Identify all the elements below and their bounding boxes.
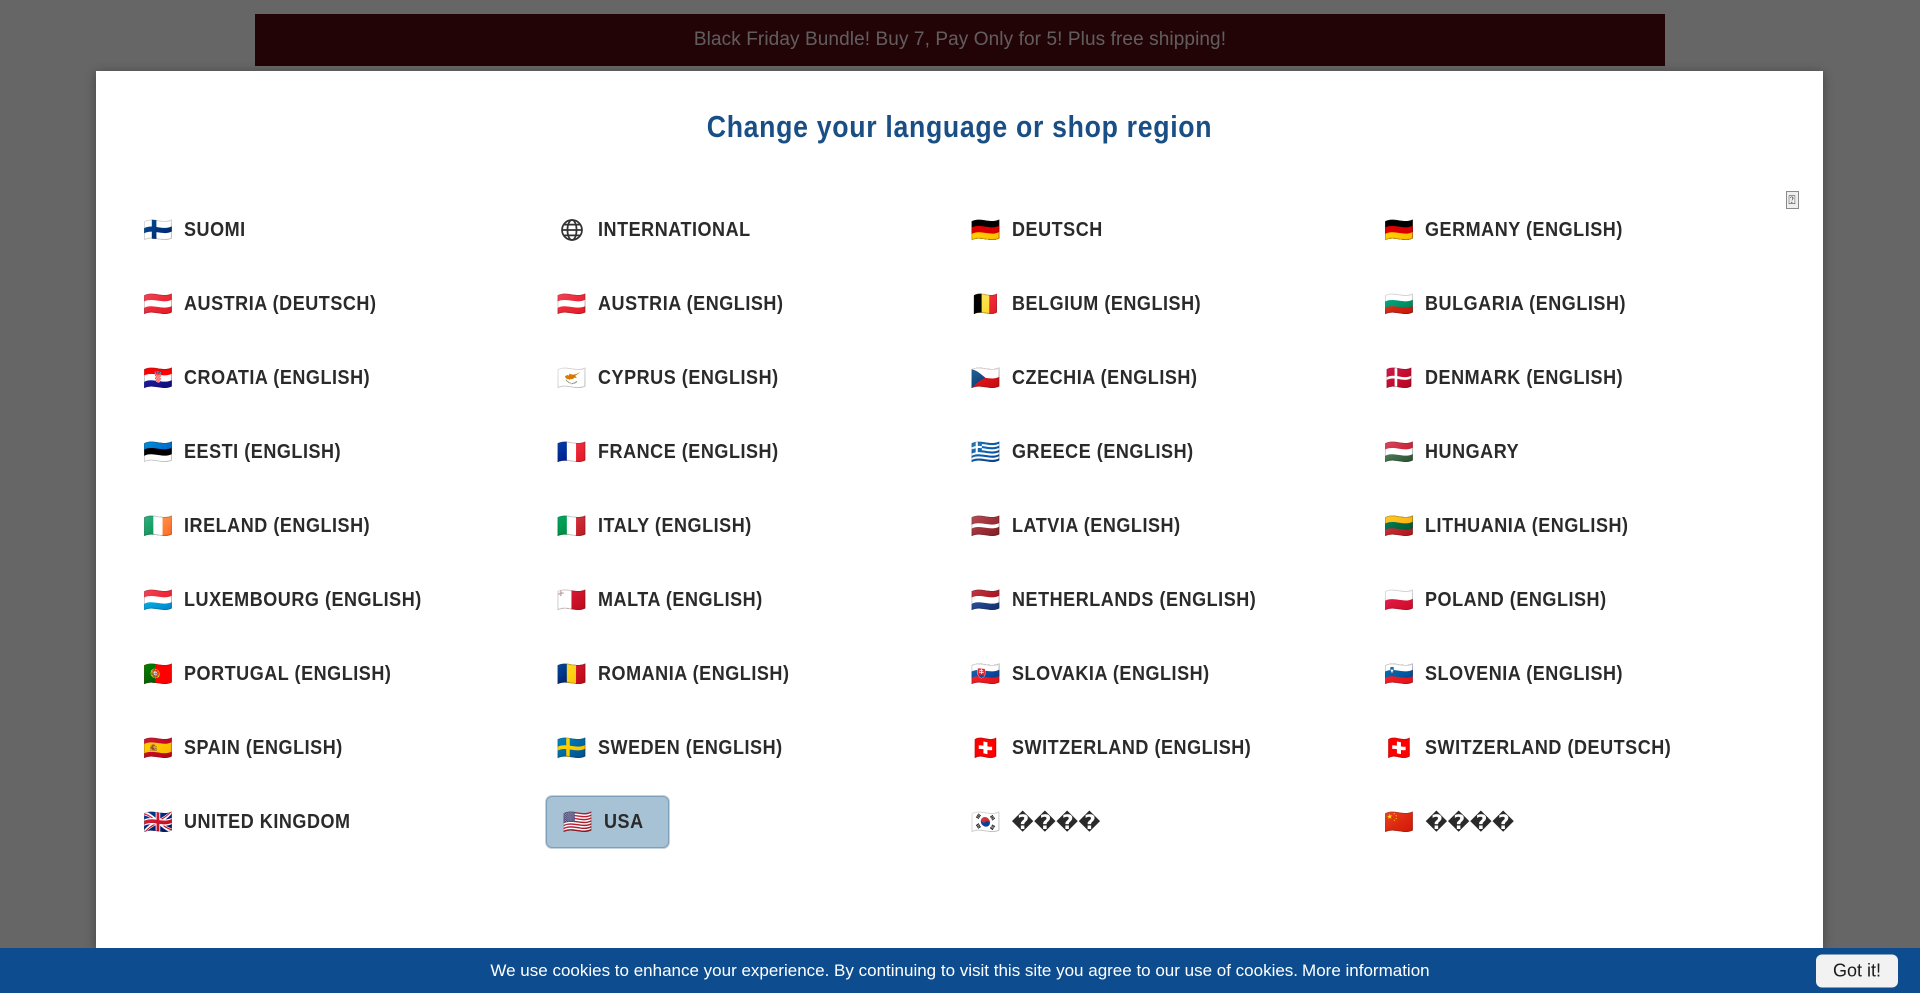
flag-south-korea-icon: 🇰🇷: [971, 810, 1001, 834]
region-item[interactable]: 🇰🇷����: [960, 796, 1112, 848]
region-item[interactable]: 🇨🇾Cyprus (English): [546, 352, 810, 404]
region-item[interactable]: 🇩🇪Germany (English): [1373, 204, 1656, 256]
region-item[interactable]: 🇳🇱Netherlands (English): [960, 574, 1295, 626]
region-item[interactable]: 🇷🇴Romania (English): [546, 648, 822, 700]
flag-switzerland-icon: 🇨🇭: [971, 736, 1001, 760]
region-item[interactable]: 🇸🇰Slovakia (English): [960, 648, 1243, 700]
region-item-label: Malta (English): [598, 589, 763, 612]
region-item[interactable]: 🇭🇷Croatia (English): [132, 352, 402, 404]
flag-finland-icon: 🇫🇮: [143, 218, 173, 242]
region-item-label: Greece (English): [1012, 441, 1194, 464]
flag-belgium-icon: 🇧🇪: [971, 292, 1001, 316]
flag-czechia-icon: 🇨🇿: [971, 366, 1001, 390]
flag-china-icon: 🇨🇳: [1384, 810, 1414, 834]
region-selector-modal: Change your language or shop region ⍰ 🇫🇮…: [96, 71, 1823, 948]
region-item-label: Lithuania (English): [1425, 515, 1629, 538]
cookie-more-information-link[interactable]: More information: [1302, 961, 1430, 981]
region-item[interactable]: International: [546, 204, 779, 256]
region-item[interactable]: 🇧🇪Belgium (English): [960, 278, 1233, 330]
region-item-label: Romania (English): [598, 663, 790, 686]
region-item[interactable]: 🇪🇪Eesti (English): [132, 426, 370, 478]
region-item-label: France (English): [598, 441, 779, 464]
region-item[interactable]: 🇫🇮Suomi: [132, 204, 264, 256]
region-item-label: Latvia (English): [1012, 515, 1181, 538]
flag-france-icon: 🇫🇷: [557, 440, 587, 464]
flag-estonia-icon: 🇪🇪: [143, 440, 173, 464]
region-item-label: Luxembourg (English): [184, 589, 422, 612]
region-item-label: Slovakia (English): [1012, 663, 1210, 686]
region-item[interactable]: 🇮🇹Italy (English): [546, 500, 780, 552]
flag-germany-icon: 🇩🇪: [971, 218, 1001, 242]
region-item-label: Austria (Deutsch): [184, 293, 377, 316]
region-item[interactable]: 🇸🇮Slovenia (English): [1373, 648, 1656, 700]
flag-hungary-icon: 🇭🇺: [1384, 440, 1414, 464]
region-item[interactable]: 🇭🇺Hungary: [1373, 426, 1541, 478]
region-item[interactable]: 🇱🇹Lithuania (English): [1373, 500, 1662, 552]
region-item-label: Switzerland (Deutsch): [1425, 737, 1671, 760]
cookie-consent-text: We use cookies to enhance your experienc…: [490, 961, 1298, 981]
region-item[interactable]: 🇺🇸USA: [546, 796, 669, 848]
region-item[interactable]: 🇵🇹Portugal (English): [132, 648, 425, 700]
region-item-label: International: [598, 219, 751, 242]
region-item-label: Eesti (English): [184, 441, 341, 464]
region-item[interactable]: 🇩🇰Denmark (English): [1373, 352, 1656, 404]
flag-lithuania-icon: 🇱🇹: [1384, 514, 1414, 538]
flag-romania-icon: 🇷🇴: [557, 662, 587, 686]
region-item[interactable]: 🇫🇷France (English): [546, 426, 810, 478]
region-item-label: Austria (English): [598, 293, 784, 316]
modal-title: Change your language or shop region: [217, 71, 1702, 145]
region-item-label: Bulgaria (English): [1425, 293, 1626, 316]
region-item[interactable]: 🇧🇬Bulgaria (English): [1373, 278, 1659, 330]
flag-latvia-icon: 🇱🇻: [971, 514, 1001, 538]
region-item-label: Ireland (English): [184, 515, 370, 538]
region-item-label: United Kingdom: [184, 811, 351, 834]
flag-denmark-icon: 🇩🇰: [1384, 366, 1414, 390]
region-item[interactable]: 🇪🇸Spain (English): [132, 722, 371, 774]
region-item[interactable]: 🇵🇱Poland (English): [1373, 574, 1638, 626]
region-item-label: Croatia (English): [184, 367, 370, 390]
cookie-accept-button[interactable]: Got it!: [1816, 954, 1898, 987]
flag-usa-icon: 🇺🇸: [563, 810, 593, 834]
region-item-label: Cyprus (English): [598, 367, 779, 390]
flag-croatia-icon: 🇭🇷: [143, 366, 173, 390]
region-item[interactable]: 🇬🇧United Kingdom: [132, 796, 380, 848]
region-item-label: Hungary: [1425, 441, 1519, 464]
region-item-label: Portugal (English): [184, 663, 391, 686]
flag-bulgaria-icon: 🇧🇬: [1384, 292, 1414, 316]
region-item[interactable]: 🇨🇳����: [1373, 796, 1525, 848]
region-item-label: Switzerland (English): [1012, 737, 1251, 760]
cookie-consent-bar: We use cookies to enhance your experienc…: [0, 948, 1920, 993]
region-item-label: Netherlands (English): [1012, 589, 1256, 612]
region-item[interactable]: 🇲🇹Malta (English): [546, 574, 792, 626]
flag-cyprus-icon: 🇨🇾: [557, 366, 587, 390]
flag-united-kingdom-icon: 🇬🇧: [143, 810, 173, 834]
flag-austria-icon: 🇦🇹: [557, 292, 587, 316]
flag-malta-icon: 🇲🇹: [557, 588, 587, 612]
flag-switzerland-icon: 🇨🇭: [1384, 736, 1414, 760]
region-item-label: Deutsch: [1012, 219, 1103, 242]
flag-greece-icon: 🇬🇷: [971, 440, 1001, 464]
region-item-label: USA: [604, 811, 644, 834]
region-item-label: ����: [1425, 810, 1514, 834]
region-item-label: Suomi: [184, 219, 246, 242]
flag-luxembourg-icon: 🇱🇺: [143, 588, 173, 612]
region-item[interactable]: 🇨🇿Czechia (English): [960, 352, 1229, 404]
region-item-label: Poland (English): [1425, 589, 1607, 612]
region-item-label: Slovenia (English): [1425, 663, 1623, 686]
region-item-label: Belgium (English): [1012, 293, 1201, 316]
region-item[interactable]: 🇨🇭Switzerland (English): [960, 722, 1289, 774]
region-item-label: Spain (English): [184, 737, 343, 760]
region-item-label: Czechia (English): [1012, 367, 1198, 390]
region-item[interactable]: 🇩🇪Deutsch: [960, 204, 1124, 256]
flag-austria-icon: 🇦🇹: [143, 292, 173, 316]
region-item-label: Italy (English): [598, 515, 752, 538]
flag-slovenia-icon: 🇸🇮: [1384, 662, 1414, 686]
region-item-label: Germany (English): [1425, 219, 1623, 242]
region-item-label: ����: [1012, 810, 1101, 834]
flag-ireland-icon: 🇮🇪: [143, 514, 173, 538]
close-icon-glyph: ⍰: [1786, 191, 1799, 209]
region-item-label: Sweden (English): [598, 737, 783, 760]
region-item[interactable]: 🇬🇷Greece (English): [960, 426, 1225, 478]
flag-portugal-icon: 🇵🇹: [143, 662, 173, 686]
region-item[interactable]: 🇨🇭Switzerland (Deutsch): [1373, 722, 1710, 774]
flag-poland-icon: 🇵🇱: [1384, 588, 1414, 612]
flag-slovakia-icon: 🇸🇰: [971, 662, 1001, 686]
globe-icon: [557, 217, 587, 243]
region-item[interactable]: 🇱🇺Luxembourg (English): [132, 574, 459, 626]
region-item[interactable]: 🇸🇪Sweden (English): [546, 722, 814, 774]
region-grid: 🇫🇮SuomiInternational🇩🇪Deutsch🇩🇪Germany (…: [132, 193, 1787, 859]
region-item[interactable]: 🇦🇹Austria (Deutsch): [132, 278, 409, 330]
flag-spain-icon: 🇪🇸: [143, 736, 173, 760]
region-item-label: Denmark (English): [1425, 367, 1623, 390]
cookie-bar-inner: We use cookies to enhance your experienc…: [0, 961, 1920, 981]
region-item[interactable]: 🇱🇻Latvia (English): [960, 500, 1210, 552]
flag-italy-icon: 🇮🇹: [557, 514, 587, 538]
region-item[interactable]: 🇦🇹Austria (English): [546, 278, 815, 330]
region-item[interactable]: 🇮🇪Ireland (English): [132, 500, 402, 552]
flag-sweden-icon: 🇸🇪: [557, 736, 587, 760]
flag-netherlands-icon: 🇳🇱: [971, 588, 1001, 612]
flag-germany-icon: 🇩🇪: [1384, 218, 1414, 242]
